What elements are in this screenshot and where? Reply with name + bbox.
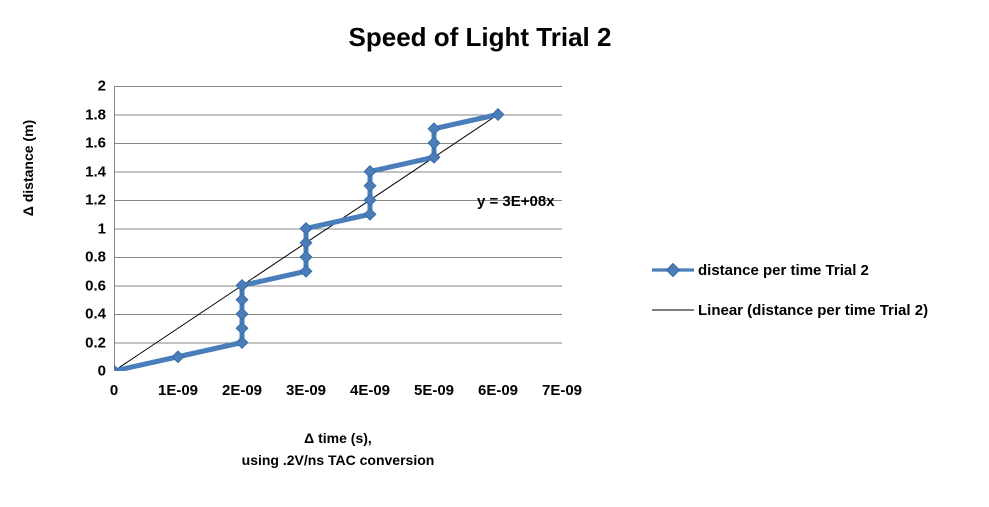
y-tick-label: 0 bbox=[50, 364, 106, 379]
x-axis-title-line2: using .2V/ns TAC conversion bbox=[114, 450, 562, 472]
y-tick-label: 0.8 bbox=[50, 250, 106, 265]
y-tick-label: 1.8 bbox=[50, 107, 106, 122]
data-point-marker bbox=[300, 251, 312, 263]
data-point-marker bbox=[236, 280, 248, 292]
y-axis-title: Δ distance (m) bbox=[20, 78, 36, 258]
x-axis-title-line1: Δ time (s), bbox=[304, 430, 372, 446]
data-point-marker bbox=[236, 337, 248, 349]
x-tick-label: 7E-09 bbox=[522, 383, 602, 398]
y-tick-label: 1.6 bbox=[50, 136, 106, 151]
y-tick-label: 0.6 bbox=[50, 278, 106, 293]
data-point-marker bbox=[364, 194, 376, 206]
y-tick-label: 1.2 bbox=[50, 193, 106, 208]
data-point-marker bbox=[300, 265, 312, 277]
data-point-marker bbox=[236, 308, 248, 320]
legend-thin-line-icon bbox=[652, 300, 694, 320]
legend-item-trendline[interactable]: Linear (distance per time Trial 2) bbox=[652, 290, 982, 330]
data-point-marker bbox=[300, 223, 312, 235]
data-point-marker bbox=[172, 351, 184, 363]
legend-item-series[interactable]: distance per time Trial 2 bbox=[652, 250, 982, 290]
data-point-marker bbox=[428, 151, 440, 163]
trendline-equation-label: y = 3E+08x bbox=[477, 193, 555, 210]
data-point-marker bbox=[236, 294, 248, 306]
data-point-marker bbox=[492, 109, 504, 121]
legend-marker-line-icon bbox=[652, 260, 694, 280]
x-axis-tick-labels: 01E-092E-093E-094E-095E-096E-097E-09 bbox=[114, 383, 562, 405]
y-tick-label: 2 bbox=[50, 79, 106, 94]
y-tick-label: 0.2 bbox=[50, 335, 106, 350]
data-point-marker bbox=[364, 166, 376, 178]
y-tick-label: 1.4 bbox=[50, 164, 106, 179]
data-point-marker bbox=[236, 322, 248, 334]
data-point-marker bbox=[428, 137, 440, 149]
y-tick-label: 1 bbox=[50, 221, 106, 236]
legend-label-trendline: Linear (distance per time Trial 2) bbox=[694, 302, 928, 319]
data-point-marker bbox=[300, 237, 312, 249]
data-point-marker bbox=[428, 123, 440, 135]
y-axis-tick-labels: 00.20.40.60.811.21.41.61.82 bbox=[50, 86, 106, 371]
plot-area bbox=[114, 86, 562, 371]
chart-legend: distance per time Trial 2 Linear (distan… bbox=[652, 250, 982, 330]
chart-container: Speed of Light Trial 2 Δ distance (m) 00… bbox=[0, 0, 989, 507]
x-axis-title: Δ time (s), using .2V/ns TAC conversion bbox=[114, 428, 562, 471]
data-point-marker bbox=[364, 180, 376, 192]
gridlines bbox=[114, 87, 562, 372]
chart-title: Speed of Light Trial 2 bbox=[0, 22, 960, 53]
legend-label-series: distance per time Trial 2 bbox=[694, 262, 869, 279]
data-point-marker bbox=[364, 208, 376, 220]
y-tick-label: 0.4 bbox=[50, 307, 106, 322]
plot-svg bbox=[114, 86, 562, 371]
